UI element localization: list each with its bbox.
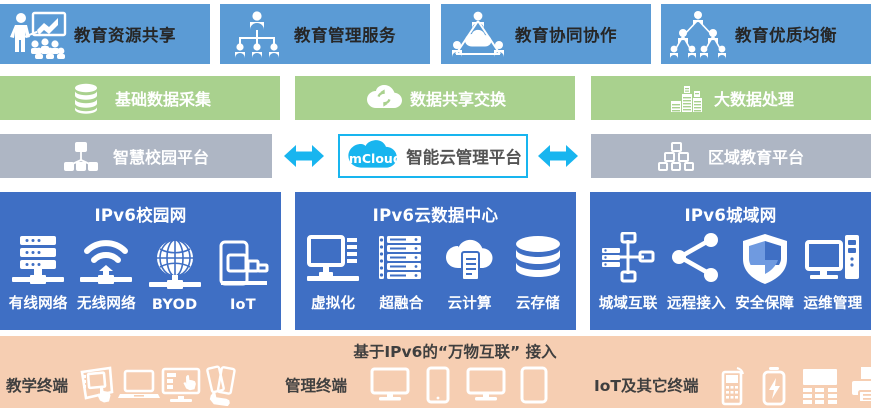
network-zone-title: IPv6城域网	[590, 202, 871, 226]
network-zone-metro[interactable]: IPv6城域网	[590, 192, 871, 330]
data-card-label: 数据共享交换	[410, 86, 506, 110]
imcloud-platform-card[interactable]: ImCloud 智能云管理平台	[338, 134, 528, 178]
data-card-label: 大数据处理	[714, 86, 794, 110]
architecture-diagram: 教育资源共享 教育管理服务	[0, 0, 871, 408]
network-item-label: 云存储	[516, 292, 560, 313]
network-item-label: 安全保障	[735, 292, 794, 313]
terminal-group-management[interactable]: 管理终端	[285, 364, 551, 406]
network-item[interactable]: 无线网络	[72, 232, 140, 313]
feature-phone-icon	[715, 365, 749, 405]
network-item[interactable]: 超融合	[367, 232, 435, 313]
metro-topology-icon	[600, 232, 656, 288]
handheld-devices-icon	[202, 364, 244, 406]
service-card-label: 教育资源共享	[74, 22, 176, 46]
arrow-right-double-icon	[538, 144, 578, 168]
service-card-0[interactable]: 教育资源共享	[0, 4, 210, 64]
region-blocks-icon	[658, 140, 694, 172]
service-card-3[interactable]: 教育优质均衡	[661, 4, 871, 64]
cloud-storage-disk-icon	[510, 232, 566, 288]
terminal-banner: 基于IPv6的“万物互联” 接入	[290, 340, 620, 362]
network-zone-campus[interactable]: IPv6校园网	[0, 192, 281, 330]
database-stack-icon	[69, 82, 103, 114]
desktop-monitor-icon	[465, 364, 507, 406]
terminal-group-label: 教学终端	[6, 374, 68, 396]
network-item-label: 云计算	[448, 292, 492, 313]
service-card-label: 教育协同协作	[515, 22, 617, 46]
keypad-terminal-icon	[799, 364, 841, 406]
network-item-label: 虚拟化	[311, 292, 355, 313]
iot-device-icon	[215, 237, 271, 293]
power-bank-icon	[757, 365, 791, 405]
data-card-label: 基础数据采集	[115, 86, 211, 110]
network-item-label: 超融合	[379, 292, 423, 313]
network-item[interactable]: 城域互联	[594, 232, 662, 313]
network-zone-datacenter[interactable]: IPv6云数据中心 虚拟化	[295, 192, 576, 330]
network-item[interactable]: 远程接入	[662, 232, 730, 313]
network-item[interactable]: 虚拟化	[299, 232, 367, 313]
network-item[interactable]: 安全保障	[731, 232, 799, 313]
network-item-label: BYOD	[152, 297, 197, 313]
share-nodes-icon	[668, 232, 724, 288]
monitor-virtual-icon	[305, 232, 361, 288]
bar-data-icon	[668, 82, 702, 114]
cloud-collaboration-icon	[447, 8, 509, 60]
laptop-icon	[118, 364, 160, 406]
org-hierarchy-icon	[226, 8, 288, 60]
cloud-compute-icon	[442, 232, 498, 288]
imcloud-platform-label: 智能云管理平台	[406, 144, 522, 168]
network-item-label: IoT	[230, 297, 256, 313]
service-card-1[interactable]: 教育管理服务	[220, 4, 430, 64]
terminal-group-label: 管理终端	[285, 374, 347, 396]
globe-icon	[147, 237, 203, 293]
platform-card-label: 智慧校园平台	[113, 144, 209, 168]
terminal-strip: 基于IPv6的“万物互联” 接入 教学终端	[0, 336, 871, 408]
arrow-left-double-icon	[284, 144, 324, 168]
shield-icon	[737, 232, 793, 288]
network-zone-title: IPv6校园网	[0, 202, 281, 226]
service-card-label: 教育优质均衡	[735, 22, 837, 46]
network-item-label: 无线网络	[77, 292, 136, 313]
platform-card-left[interactable]: 智慧校园平台	[0, 134, 272, 178]
tablet-touch-icon	[76, 364, 118, 406]
service-card-2[interactable]: 教育协同协作	[441, 4, 651, 64]
network-zone-title: IPv6云数据中心	[295, 202, 576, 226]
platform-card-label: 区域教育平台	[708, 144, 804, 168]
network-item-label: 远程接入	[667, 292, 726, 313]
network-item[interactable]: 运维管理	[799, 232, 867, 313]
tablet-icon	[517, 365, 551, 405]
data-card-2[interactable]: 大数据处理	[591, 76, 871, 120]
svg-text:ImCloud: ImCloud	[344, 151, 402, 166]
teacher-presentation-icon	[6, 8, 68, 60]
people-network-icon	[667, 8, 729, 60]
platform-card-right[interactable]: 区域教育平台	[591, 134, 871, 178]
server-rack-icon	[10, 232, 66, 288]
campus-tree-icon	[63, 140, 99, 172]
network-item-label: 运维管理	[803, 292, 862, 313]
printer-icon	[849, 364, 871, 406]
cloud-sync-icon	[364, 82, 398, 114]
service-card-label: 教育管理服务	[294, 22, 396, 46]
network-item-label: 城域互联	[599, 292, 658, 313]
network-item[interactable]: 云计算	[436, 232, 504, 313]
network-item[interactable]: 云存储	[504, 232, 572, 313]
desktop-monitor-icon	[369, 364, 411, 406]
terminal-group-label: IoT及其它终端	[594, 374, 699, 396]
terminal-group-teaching[interactable]: 教学终端	[6, 364, 244, 406]
network-item[interactable]: IoT	[209, 237, 277, 313]
network-item-label: 有线网络	[9, 292, 68, 313]
hyperconverged-rack-icon	[373, 232, 429, 288]
terminal-group-iot[interactable]: IoT及其它终端	[594, 364, 871, 406]
network-item[interactable]: 有线网络	[4, 232, 72, 313]
data-card-0[interactable]: 基础数据采集	[0, 76, 280, 120]
wifi-icon	[78, 232, 134, 288]
data-card-1[interactable]: 数据共享交换	[295, 76, 575, 120]
interactive-display-icon	[160, 364, 202, 406]
ops-monitor-icon	[805, 232, 861, 288]
smartphone-icon	[421, 365, 455, 405]
network-item[interactable]: BYOD	[141, 237, 209, 313]
imcloud-logo-icon: ImCloud	[344, 139, 402, 173]
